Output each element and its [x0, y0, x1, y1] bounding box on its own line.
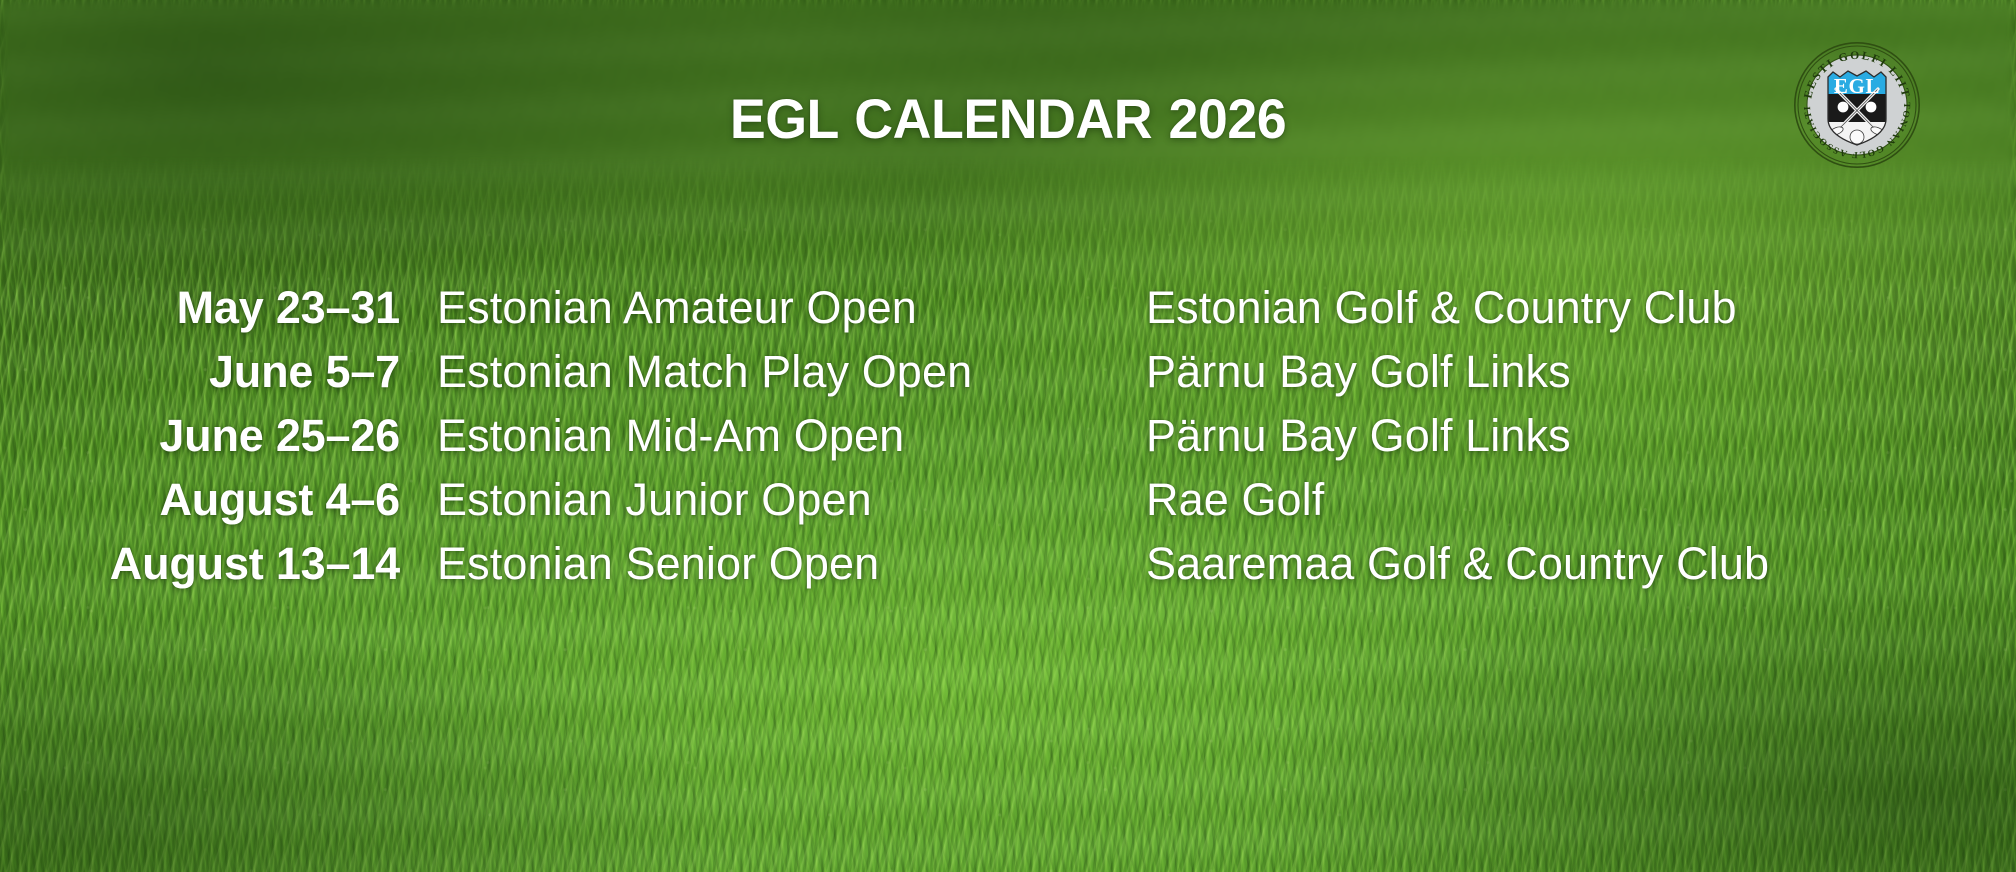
logo-shield-text: EGL [1834, 74, 1880, 98]
row-event: Estonian Senior Open [400, 538, 1146, 590]
row-date: August 13–14 [0, 538, 400, 590]
tournament-schedule-table: May 23–31 Estonian Amateur Open Estonian… [0, 282, 2016, 602]
row-date: August 4–6 [0, 474, 400, 526]
row-date: June 5–7 [0, 346, 400, 398]
golf-ball-icon [1850, 130, 1864, 144]
table-row: June 5–7 Estonian Match Play Open Pärnu … [0, 346, 2016, 410]
shield-dot-left [1838, 102, 1849, 113]
shield-dot-right [1866, 102, 1877, 113]
row-date: May 23–31 [0, 282, 400, 334]
row-date: June 25–26 [0, 410, 400, 462]
table-row: June 25–26 Estonian Mid-Am Open Pärnu Ba… [0, 410, 2016, 474]
shield-black-band [1823, 94, 1891, 122]
row-event: Estonian Amateur Open [400, 282, 1146, 334]
row-venue: Saaremaa Golf & Country Club [1146, 538, 2016, 590]
row-event: Estonian Mid-Am Open [400, 410, 1146, 462]
table-row: August 13–14 Estonian Senior Open Saarem… [0, 538, 2016, 602]
page-title: EGL CALENDAR 2026 [40, 86, 1975, 151]
table-row: August 4–6 Estonian Junior Open Rae Golf [0, 474, 2016, 538]
row-venue: Pärnu Bay Golf Links [1146, 410, 2016, 462]
table-row: May 23–31 Estonian Amateur Open Estonian… [0, 282, 2016, 346]
egl-calendar-poster: EGL CALENDAR 2026 May 23–31 Estonian Ama… [0, 0, 2016, 872]
row-event: Estonian Junior Open [400, 474, 1146, 526]
row-venue: Estonian Golf & Country Club [1146, 282, 2016, 334]
row-venue: Pärnu Bay Golf Links [1146, 346, 2016, 398]
row-venue: Rae Golf [1146, 474, 2016, 526]
egl-logo: EESTI GOLFI LIIT ESTONIAN GOLF ASSOCIATI… [1793, 41, 1921, 169]
row-event: Estonian Match Play Open [400, 346, 1146, 398]
